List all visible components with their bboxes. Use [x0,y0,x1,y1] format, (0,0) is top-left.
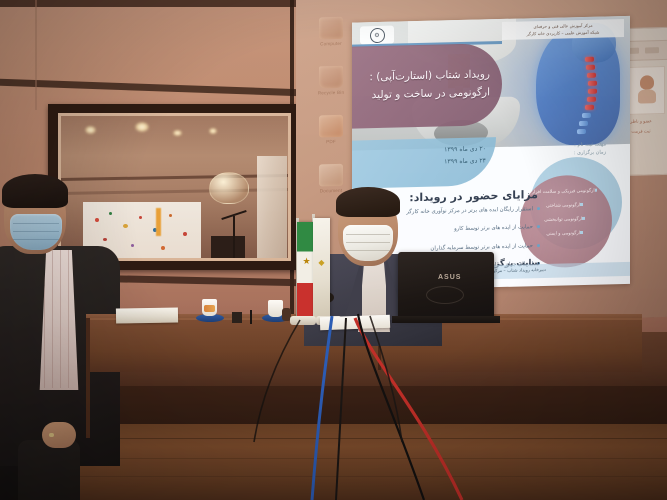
vignette-overlay [0,0,667,500]
conference-photo: Computer Recycle Bin PDF Document [0,0,667,500]
